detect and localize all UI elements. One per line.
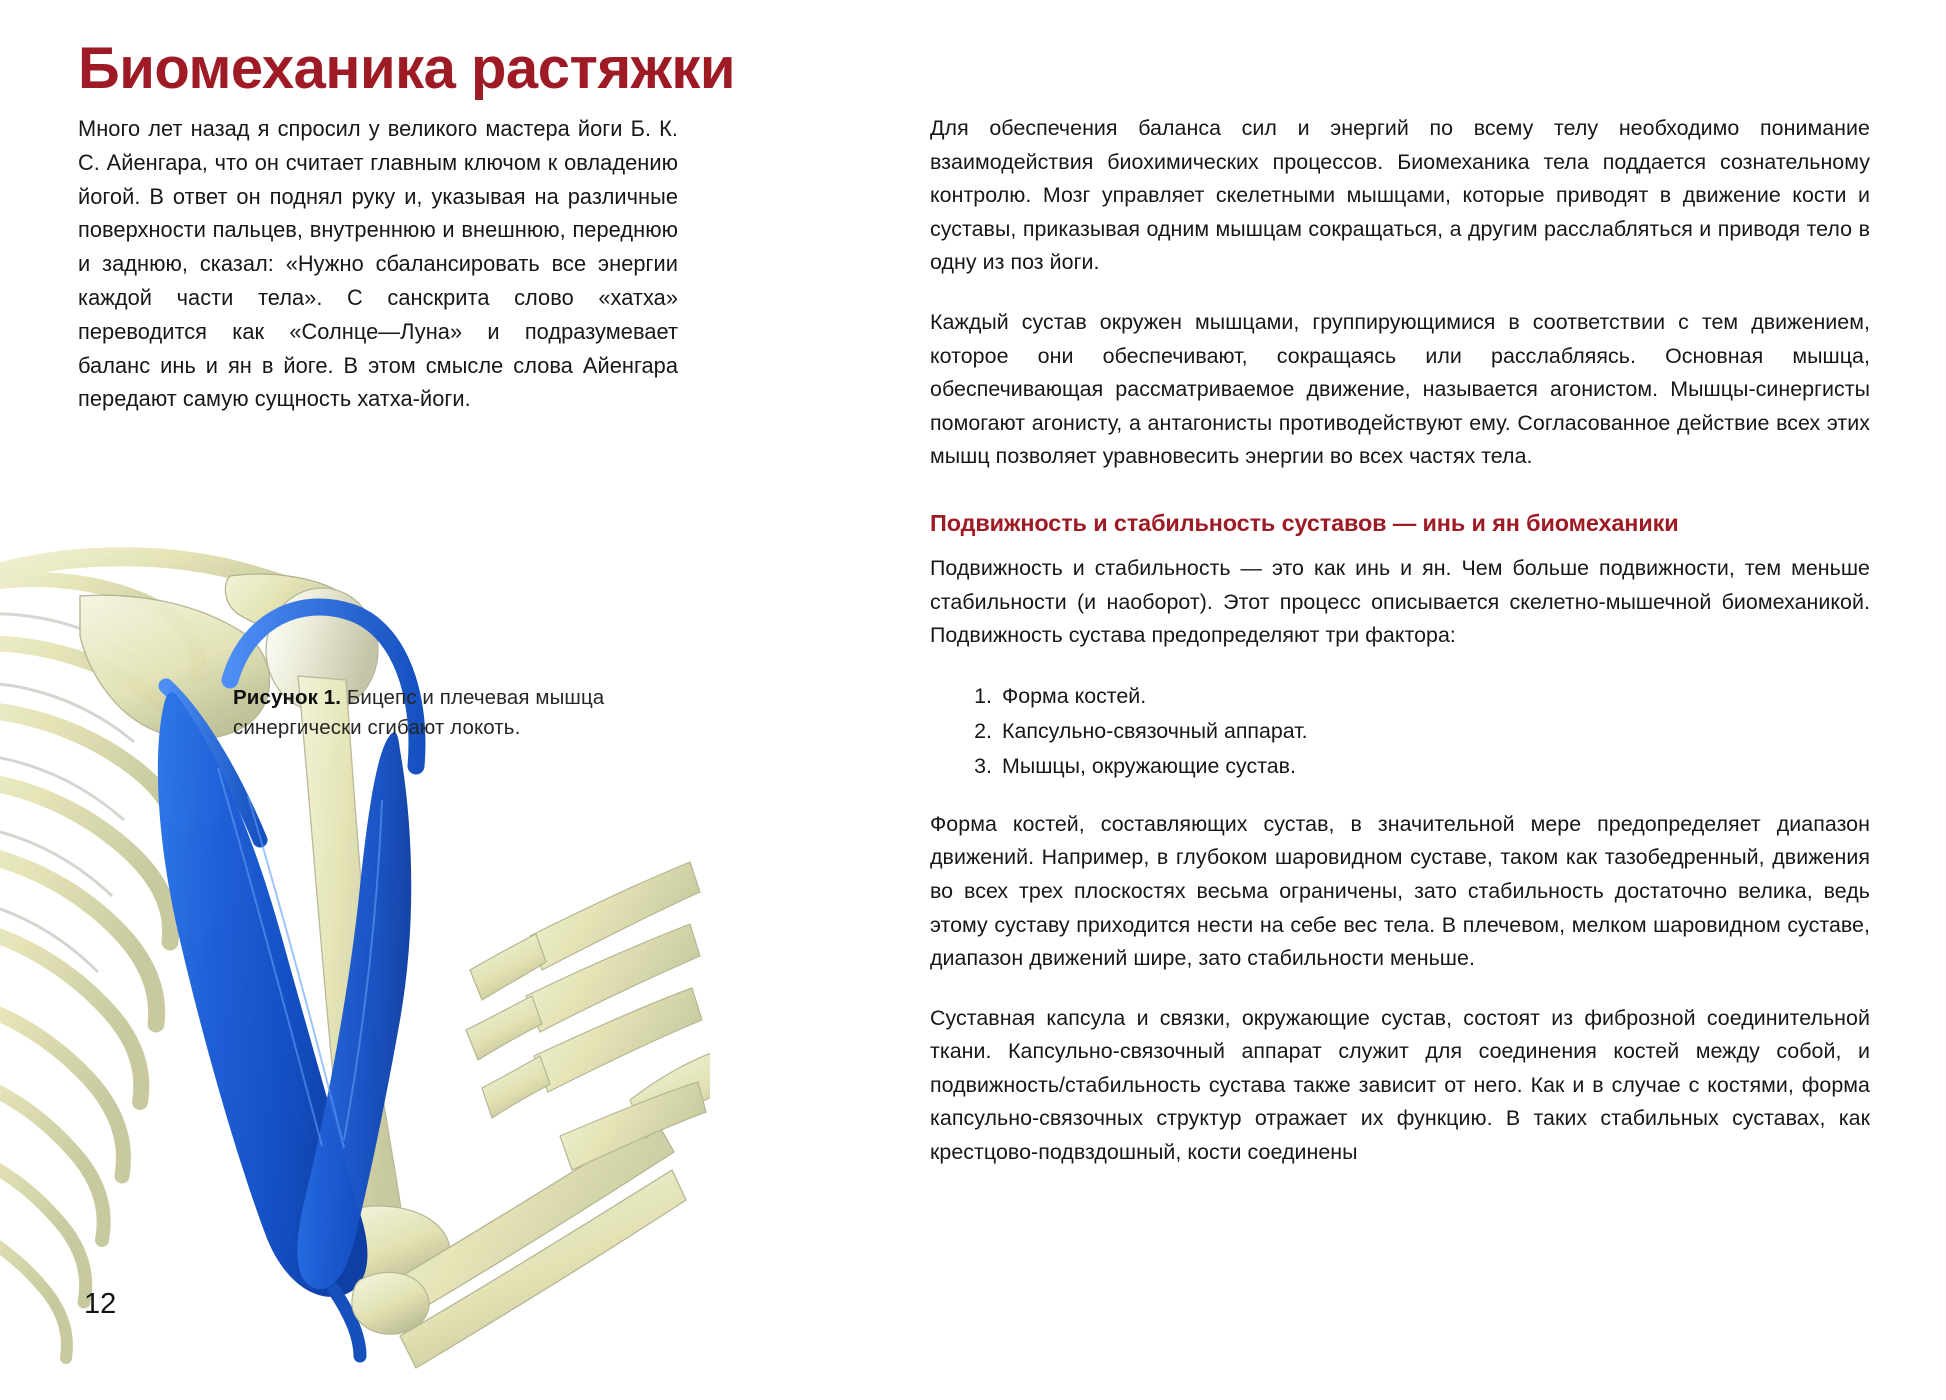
right-column: Для обеспечения баланса сил и энергий по… bbox=[930, 112, 1870, 1170]
right-paragraph-5: Суставная капсула и связки, окружающие с… bbox=[930, 1002, 1870, 1170]
document-page: Биомеханика растяжки bbox=[0, 0, 1946, 1388]
section-subheading: Подвижность и стабильность суставов — ин… bbox=[930, 508, 1870, 538]
right-paragraph-3: Подвижность и стабильность — это как инь… bbox=[930, 552, 1870, 653]
acromion bbox=[225, 574, 355, 634]
skeleton-arm-biceps-illustration bbox=[0, 500, 710, 1400]
list-item: Форма костей. bbox=[1002, 679, 1870, 714]
clavicle bbox=[0, 557, 342, 606]
right-paragraph-4: Форма костей, составляющих сустав, в зна… bbox=[930, 808, 1870, 976]
left-column: Много лет назад я спросил у великого мас… bbox=[78, 112, 678, 416]
right-paragraph-1: Для обеспечения баланса сил и энергий по… bbox=[930, 112, 1870, 280]
page-title: Биомеханика растяжки bbox=[78, 35, 735, 102]
figure-caption: Рисунок 1. Бицепс и плечевая мышца синер… bbox=[233, 683, 643, 743]
mobility-factors-list: Форма костей. Капсульно-связочный аппара… bbox=[930, 679, 1870, 784]
rib-cage-shadow bbox=[0, 614, 144, 972]
list-item: Капсульно-связочный аппарат. bbox=[1002, 714, 1870, 749]
figure-caption-lead: Рисунок 1. bbox=[233, 686, 341, 709]
right-paragraph-2: Каждый сустав окружен мышцами, группирую… bbox=[930, 306, 1870, 474]
page-number: 12 bbox=[84, 1288, 116, 1321]
rib-cage bbox=[0, 580, 199, 1358]
left-paragraph-1: Много лет назад я спросил у великого мас… bbox=[78, 112, 678, 416]
forearm-bones bbox=[352, 1120, 686, 1368]
hand-bones bbox=[466, 862, 710, 1170]
list-item: Мышцы, окружающие сустав. bbox=[1002, 749, 1870, 784]
